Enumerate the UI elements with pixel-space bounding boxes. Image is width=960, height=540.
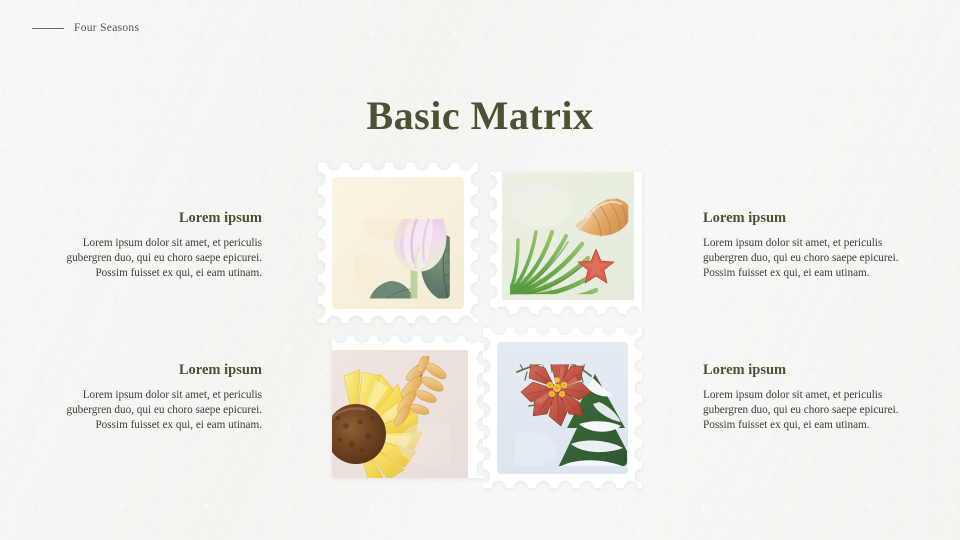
stamp-image-grid	[318, 163, 642, 488]
stamp-spring-icon[interactable]	[318, 163, 478, 323]
cell-heading-summer: Lorem ipsum	[703, 210, 903, 227]
cell-heading-autumn: Lorem ipsum	[62, 362, 262, 379]
cell-body-spring: Lorem ipsum dolor sit amet, et periculis…	[62, 236, 262, 280]
page-title: Basic Matrix	[0, 92, 960, 139]
matrix-cell-spring-text: Lorem ipsum Lorem ipsum dolor sit amet, …	[62, 210, 262, 280]
cell-body-summer: Lorem ipsum dolor sit amet, et periculis…	[703, 236, 903, 280]
stamp-autumn-icon[interactable]	[332, 336, 484, 478]
cell-heading-spring: Lorem ipsum	[62, 210, 262, 227]
cell-body-autumn: Lorem ipsum dolor sit amet, et periculis…	[62, 388, 262, 432]
stamp-winter-icon[interactable]	[483, 328, 642, 488]
eyebrow-label: Four Seasons	[74, 22, 139, 34]
horizontal-rule-icon	[32, 28, 64, 29]
cell-body-winter: Lorem ipsum dolor sit amet, et periculis…	[703, 388, 903, 432]
stamp-summer-icon[interactable]	[490, 172, 642, 314]
breadcrumb: Four Seasons	[32, 22, 139, 34]
matrix-cell-winter-text: Lorem ipsum Lorem ipsum dolor sit amet, …	[703, 362, 903, 432]
matrix-cell-autumn-text: Lorem ipsum Lorem ipsum dolor sit amet, …	[62, 362, 262, 432]
matrix-cell-summer-text: Lorem ipsum Lorem ipsum dolor sit amet, …	[703, 210, 903, 280]
cell-heading-winter: Lorem ipsum	[703, 362, 903, 379]
